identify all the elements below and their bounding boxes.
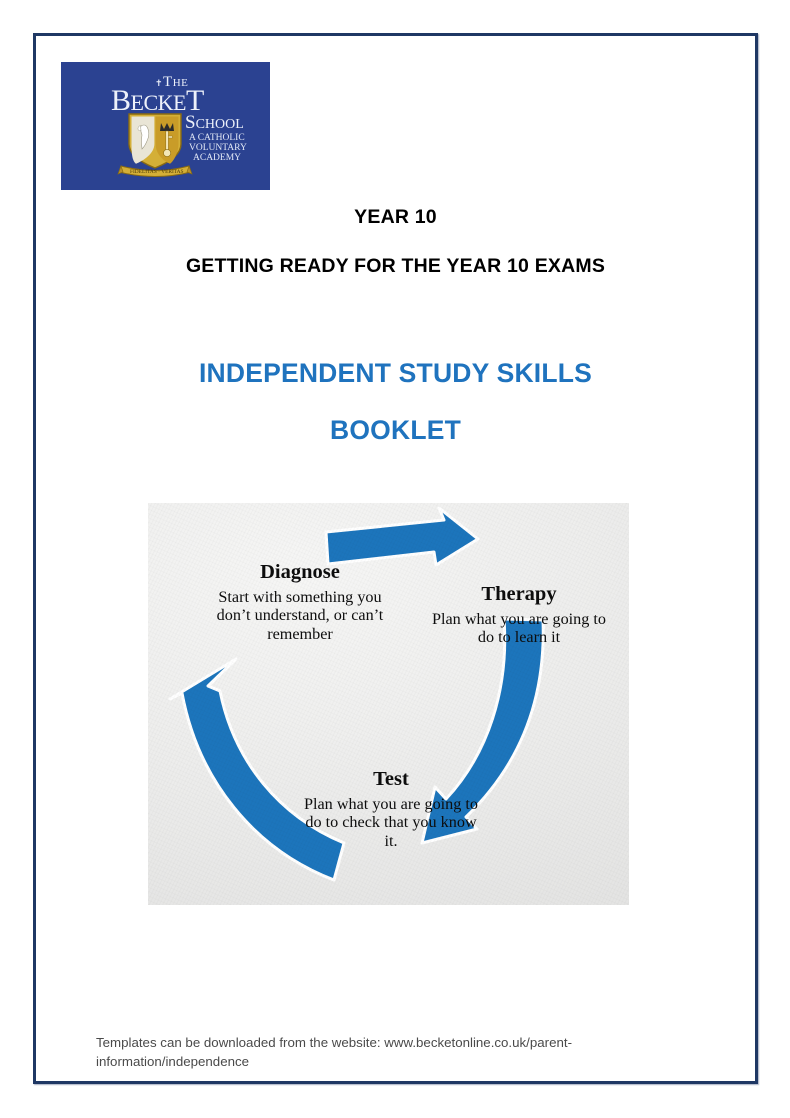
cycle-node-test-title: Test	[303, 768, 479, 792]
cycle-node-therapy-title: Therapy	[426, 583, 612, 607]
page-title-independent-study-skills: INDEPENDENT STUDY SKILLS	[33, 358, 758, 389]
footer-note: Templates can be downloaded from the web…	[96, 1033, 616, 1071]
svg-text:FIDELITAS · VERITAS: FIDELITAS · VERITAS	[130, 169, 184, 175]
svg-text:VOLUNTARY: VOLUNTARY	[189, 143, 247, 153]
svg-text:A CATHOLIC: A CATHOLIC	[189, 133, 245, 143]
school-logo: ✝THE BECKET SCHOOL A CATHOLIC VOLUNTARY …	[61, 62, 270, 190]
cycle-node-test-description: Plan what you are going to do to check t…	[303, 795, 479, 851]
svg-text:SCHOOL: SCHOOL	[185, 112, 244, 133]
school-logo-artwork: ✝THE BECKET SCHOOL A CATHOLIC VOLUNTARY …	[97, 70, 267, 182]
page-title-booklet: BOOKLET	[33, 415, 758, 446]
cycle-node-test: Test Plan what you are going to do to ch…	[303, 768, 479, 851]
cycle-node-diagnose-description: Start with something you don’t understan…	[200, 588, 400, 644]
svg-text:ACADEMY: ACADEMY	[193, 153, 241, 163]
cycle-node-therapy: Therapy Plan what you are going to do to…	[426, 583, 612, 647]
svg-text:✝THE: ✝THE	[155, 74, 188, 90]
study-cycle-diagram: Diagnose Start with something you don’t …	[148, 503, 629, 905]
document-page: ✝THE BECKET SCHOOL A CATHOLIC VOLUNTARY …	[0, 0, 790, 1118]
cycle-node-diagnose-title: Diagnose	[200, 561, 400, 585]
page-subtitle-getting-ready: GETTING READY FOR THE YEAR 10 EXAMS	[33, 255, 758, 278]
cycle-node-therapy-description: Plan what you are going to do to learn i…	[426, 610, 612, 648]
cycle-node-diagnose: Diagnose Start with something you don’t …	[200, 561, 400, 644]
arrow-diagnose-to-therapy-icon	[326, 508, 478, 565]
page-title-year: YEAR 10	[33, 206, 758, 229]
